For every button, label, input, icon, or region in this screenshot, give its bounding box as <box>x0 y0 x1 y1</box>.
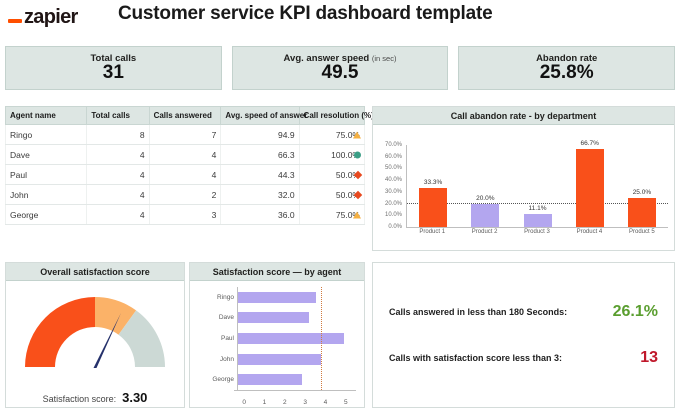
y-axis-tick: 30.0% <box>376 189 402 195</box>
bar-category-label: Dave <box>194 314 237 321</box>
cell-avg-speed: 36.0 <box>221 205 299 225</box>
x-axis-tick: 3 <box>295 399 315 406</box>
cell-call-resolution: 50.0% <box>299 165 364 185</box>
panel-title: Call abandon rate - by department <box>451 111 597 121</box>
bar[interactable] <box>238 292 316 303</box>
bar-value-label: 66.7% <box>564 140 616 147</box>
cell-call-resolution: 75.0% <box>299 125 364 145</box>
bar-track <box>237 287 356 308</box>
bar-value-label: 33.3% <box>407 179 459 186</box>
x-axis-tick: Product 5 <box>616 229 668 235</box>
cell-agent-name: George <box>6 205 87 225</box>
y-axis-tick: 20.0% <box>376 201 402 207</box>
logo-text: zapier <box>24 6 78 29</box>
x-axis-labels: Product 1Product 2Product 3Product 4Prod… <box>406 229 668 235</box>
bar[interactable] <box>628 198 656 227</box>
cell-agent-name: John <box>6 185 87 205</box>
x-axis-tick: Product 1 <box>406 229 458 235</box>
bar-row[interactable]: Paul <box>194 328 356 349</box>
page-header: zapier Customer service KPI dashboard te… <box>0 0 680 40</box>
panel-header: Satisfaction score — by agent <box>190 263 364 281</box>
bar-row[interactable]: Ringo <box>194 287 356 308</box>
col-agent-name[interactable]: Agent name <box>6 107 87 125</box>
kpi-card-row: Total calls 31 Avg. answer speed (in sec… <box>5 46 675 90</box>
abandon-rate-panel: Call abandon rate - by department 70.0%6… <box>372 106 675 251</box>
gauge-caption: Satisfaction score:3.30 <box>6 390 184 405</box>
kpi-value: 49.5 <box>322 63 359 83</box>
kpi-card-abandon-rate: Abandon rate 25.8% <box>458 46 675 90</box>
cell-calls-answered: 3 <box>149 205 221 225</box>
bar[interactable] <box>238 333 344 344</box>
cell-total-calls: 8 <box>87 125 149 145</box>
cell-avg-speed: 66.3 <box>221 145 299 165</box>
bar[interactable] <box>471 204 499 227</box>
bar-column[interactable]: 33.3% <box>407 145 459 227</box>
gauge-caption-label: Satisfaction score: <box>43 394 117 404</box>
bar-row[interactable]: George <box>194 369 356 390</box>
x-axis-tick: 4 <box>315 399 335 406</box>
x-axis-tick: 0 <box>234 399 254 406</box>
table-row[interactable]: George 4 3 36.0 75.0% <box>6 205 365 225</box>
bar-column[interactable]: 66.7% <box>564 145 616 227</box>
status-circle-icon <box>354 151 361 158</box>
bar-track <box>237 328 356 349</box>
bar-column[interactable]: 11.1% <box>511 145 563 227</box>
bar-track <box>237 308 356 329</box>
plot-area: 33.3%20.0%11.1%66.7%25.0% <box>406 145 668 228</box>
cell-total-calls: 4 <box>87 165 149 185</box>
bar[interactable] <box>419 188 447 227</box>
kpi-value: 31 <box>103 63 124 83</box>
bar-row[interactable]: John <box>194 349 356 370</box>
bar-track <box>237 349 356 370</box>
cell-avg-speed: 94.9 <box>221 125 299 145</box>
status-triangle-icon <box>353 131 361 138</box>
cell-total-calls: 4 <box>87 205 149 225</box>
cell-total-calls: 4 <box>87 185 149 205</box>
kpi-unit: (in sec) <box>372 54 397 63</box>
stat-row-low-satisfaction: Calls with satisfaction score less than … <box>389 349 658 367</box>
x-axis-labels: 012345 <box>234 399 356 406</box>
overall-satisfaction-panel: Overall satisfaction score Satisfaction … <box>5 262 185 408</box>
panel-header: Overall satisfaction score <box>6 263 184 281</box>
cell-agent-name: Ringo <box>6 125 87 145</box>
bar-column[interactable]: 25.0% <box>616 145 668 227</box>
table-row[interactable]: John 4 2 32.0 50.0% <box>6 185 365 205</box>
stat-value: 13 <box>640 349 658 367</box>
gauge-svg <box>15 285 175 375</box>
y-axis-tick: 40.0% <box>376 177 402 183</box>
bar[interactable] <box>524 214 552 227</box>
agent-table-body: Ringo 8 7 94.9 75.0% Dave 4 4 66.3 100.0… <box>6 125 365 225</box>
cell-total-calls: 4 <box>87 145 149 165</box>
col-calls-answered[interactable]: Calls answered <box>149 107 221 125</box>
agent-table-panel: Agent name Total calls Calls answered Av… <box>5 106 365 251</box>
bar-group: RingoDavePaulJohnGeorge <box>194 287 356 390</box>
x-axis-tick: Product 3 <box>511 229 563 235</box>
stat-row-answered-180s: Calls answered in less than 180 Seconds:… <box>389 303 658 321</box>
x-axis-tick: 5 <box>336 399 356 406</box>
page-title: Customer service KPI dashboard template <box>118 3 492 25</box>
gauge-band-low <box>25 297 95 367</box>
abandon-rate-chart: 70.0%60.0%50.0%40.0%30.0%20.0%10.0%0.0% … <box>373 125 674 251</box>
threshold-line <box>321 287 322 390</box>
kpi-card-total-calls: Total calls 31 <box>5 46 222 90</box>
y-axis-tick: 60.0% <box>376 154 402 160</box>
stat-label: Calls with satisfaction score less than … <box>389 353 562 363</box>
x-axis-tick: Product 2 <box>458 229 510 235</box>
panel-header: Call abandon rate - by department <box>373 107 674 125</box>
y-axis-tick: 0.0% <box>376 224 402 230</box>
bar-category-label: Paul <box>194 335 237 342</box>
bar-category-label: John <box>194 356 237 363</box>
x-axis-tick: Product 4 <box>563 229 615 235</box>
cell-calls-answered: 4 <box>149 145 221 165</box>
table-row[interactable]: Paul 4 4 44.3 50.0% <box>6 165 365 185</box>
agent-satisfaction-chart: RingoDavePaulJohnGeorge 012345 <box>190 281 364 408</box>
gauge-chart: Satisfaction score:3.30 <box>6 281 184 408</box>
cell-calls-answered: 2 <box>149 185 221 205</box>
kpi-value: 25.8% <box>540 63 594 83</box>
table-row[interactable]: Ringo 8 7 94.9 75.0% <box>6 125 365 145</box>
panel-title: Overall satisfaction score <box>40 267 150 277</box>
stat-label: Calls answered in less than 180 Seconds: <box>389 307 567 317</box>
cell-avg-speed: 44.3 <box>221 165 299 185</box>
bar-value-label: 11.1% <box>511 205 563 212</box>
agent-satisfaction-panel: Satisfaction score — by agent RingoDaveP… <box>189 262 365 408</box>
bar-column[interactable]: 20.0% <box>459 145 511 227</box>
y-axis-tick: 70.0% <box>376 142 402 148</box>
gauge-caption-value: 3.30 <box>122 390 147 405</box>
col-call-resolution[interactable]: Call resolution (%) <box>299 107 364 125</box>
cell-avg-speed: 32.0 <box>221 185 299 205</box>
status-triangle-icon <box>353 211 361 218</box>
table-header-row: Agent name Total calls Calls answered Av… <box>6 107 365 125</box>
bar-track <box>237 369 356 390</box>
kpi-card-avg-answer-speed: Avg. answer speed (in sec) 49.5 <box>232 46 449 90</box>
y-axis-tick: 50.0% <box>376 165 402 171</box>
bar-value-label: 20.0% <box>459 195 511 202</box>
bar-category-label: Ringo <box>194 294 237 301</box>
bar-category-label: George <box>194 376 237 383</box>
panel-title: Satisfaction score — by agent <box>213 267 342 277</box>
cell-agent-name: Dave <box>6 145 87 165</box>
cell-agent-name: Paul <box>6 165 87 185</box>
cell-call-resolution: 75.0% <box>299 205 364 225</box>
cell-call-resolution: 100.0% <box>299 145 364 165</box>
x-axis-line <box>234 390 356 391</box>
bar[interactable] <box>238 354 321 365</box>
dashboard-page: zapier Customer service KPI dashboard te… <box>0 0 680 408</box>
bar[interactable] <box>576 149 604 227</box>
y-axis-tick: 10.0% <box>376 212 402 218</box>
bar-value-label: 25.0% <box>616 189 668 196</box>
cell-calls-answered: 7 <box>149 125 221 145</box>
summary-stats-panel: Calls answered in less than 180 Seconds:… <box>372 262 675 408</box>
cell-call-resolution: 50.0% <box>299 185 364 205</box>
col-total-calls[interactable]: Total calls <box>87 107 149 125</box>
bar-group: 33.3%20.0%11.1%66.7%25.0% <box>407 145 668 227</box>
col-avg-speed[interactable]: Avg. speed of answer <box>221 107 299 125</box>
x-axis-tick: 2 <box>275 399 295 406</box>
agent-table: Agent name Total calls Calls answered Av… <box>5 106 365 225</box>
cell-calls-answered: 4 <box>149 165 221 185</box>
zapier-logo: zapier <box>8 6 78 29</box>
bar[interactable] <box>238 312 309 323</box>
x-axis-tick: 1 <box>254 399 274 406</box>
bar[interactable] <box>238 374 302 385</box>
logo-dash-icon <box>8 19 22 23</box>
bar-row[interactable]: Dave <box>194 308 356 329</box>
table-row[interactable]: Dave 4 4 66.3 100.0% <box>6 145 365 165</box>
stat-value: 26.1% <box>613 303 658 321</box>
